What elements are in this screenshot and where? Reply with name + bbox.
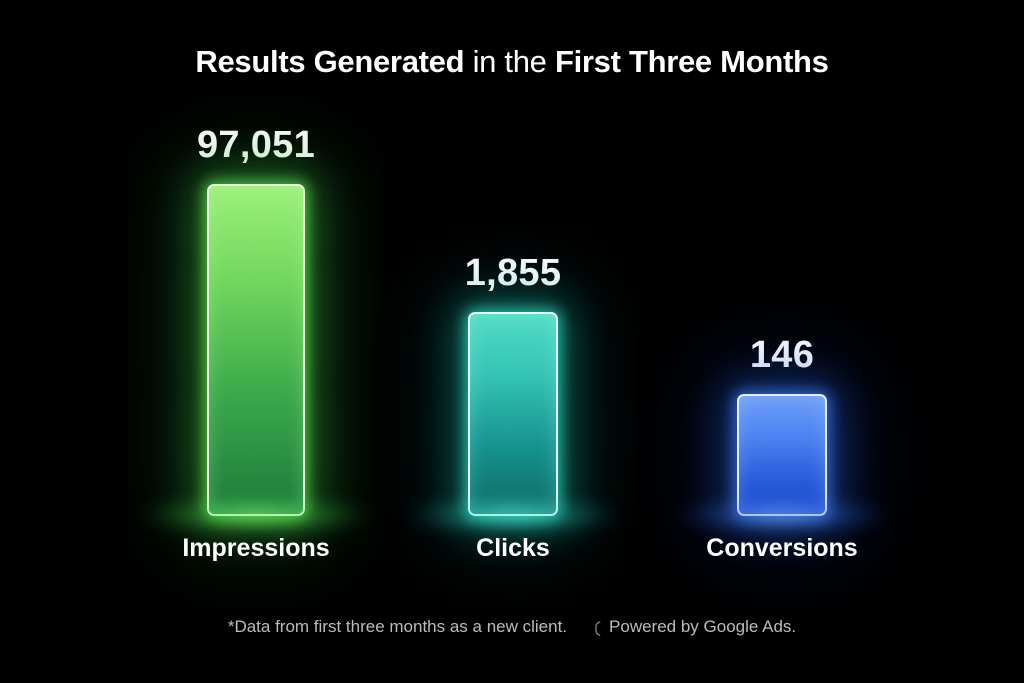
google-g-icon xyxy=(593,621,602,636)
bar-value-label-impressions: 97,051 xyxy=(197,124,315,167)
bar-group-impressions: 97,051 Impressions xyxy=(207,184,305,516)
footnote-powered-by-text: Powered by Google Ads. xyxy=(609,617,796,637)
footnote-data-source: *Data from first three months as a new c… xyxy=(228,617,567,637)
footnote-powered-by: Powered by Google Ads. xyxy=(593,617,796,637)
bar-value-label-conversions: 146 xyxy=(750,334,814,377)
bar-chart-plot: 97,051 Impressions 1,855 Clicks 146 Conv… xyxy=(0,0,1024,683)
bar-impressions xyxy=(207,184,305,516)
bar-group-conversions: 146 Conversions xyxy=(737,394,827,516)
bar-conversions xyxy=(737,394,827,516)
bar-category-label-conversions: Conversions xyxy=(706,534,857,563)
footnote: *Data from first three months as a new c… xyxy=(0,617,1024,637)
bar-group-clicks: 1,855 Clicks xyxy=(468,312,558,516)
chart-canvas: Results Generated in the First Three Mon… xyxy=(0,0,1024,683)
bar-clicks xyxy=(468,312,558,516)
bar-category-label-impressions: Impressions xyxy=(182,534,329,563)
bar-category-label-clicks: Clicks xyxy=(476,534,550,563)
bar-value-label-clicks: 1,855 xyxy=(465,252,562,295)
